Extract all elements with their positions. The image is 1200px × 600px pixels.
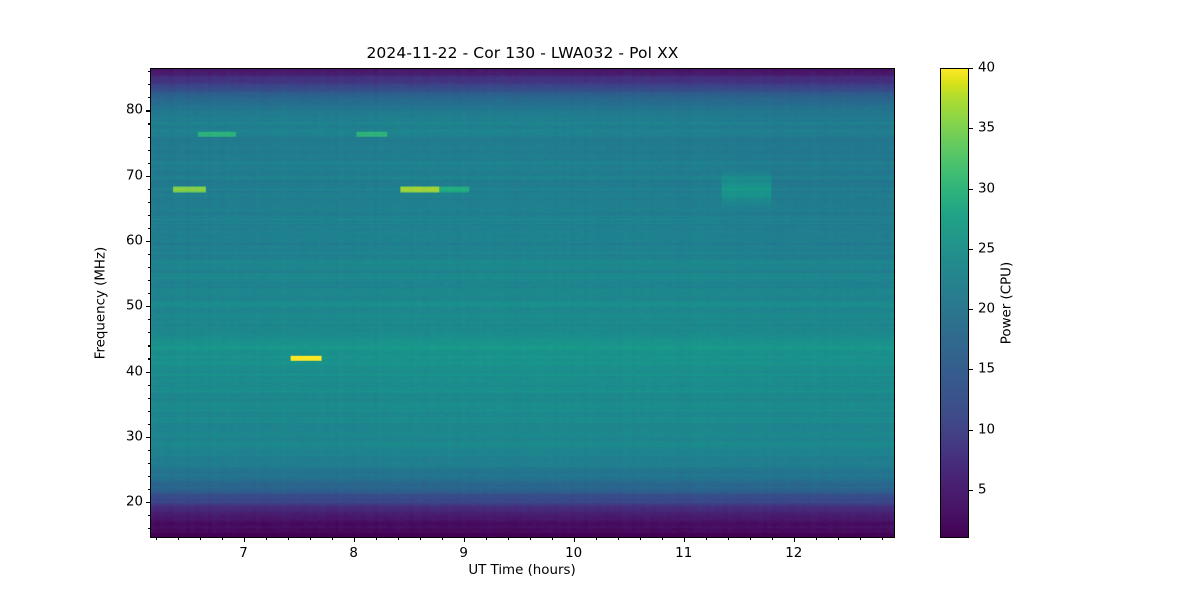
y-tick-minor — [148, 528, 150, 529]
x-tick-minor — [530, 538, 531, 540]
x-tick-minor — [398, 538, 399, 540]
y-tick-label: 30 — [126, 429, 143, 444]
y-tick-minor — [148, 332, 150, 333]
colorbar-tick — [969, 369, 973, 370]
x-tick-minor — [596, 538, 597, 540]
y-tick-minor — [148, 319, 150, 320]
y-tick-minor — [148, 150, 150, 151]
y-tick-minor — [148, 476, 150, 477]
y-tick-minor — [148, 345, 150, 346]
y-axis-label: Frequency (MHz) — [94, 247, 109, 360]
y-tick-minor — [148, 267, 150, 268]
x-tick-minor — [288, 538, 289, 540]
x-tick-major — [354, 538, 355, 542]
y-tick-major — [146, 502, 150, 503]
y-tick-label: 40 — [126, 364, 143, 379]
colorbar-tick-label: 35 — [978, 121, 995, 136]
x-tick-minor — [200, 538, 201, 540]
y-tick-label: 60 — [126, 233, 143, 248]
x-tick-minor — [508, 538, 509, 540]
y-tick-major — [146, 372, 150, 373]
y-tick-major — [146, 437, 150, 438]
y-tick-minor — [148, 228, 150, 229]
x-tick-label: 11 — [675, 546, 692, 561]
x-tick-minor — [552, 538, 553, 540]
colorbar-tick-label: 5 — [978, 482, 987, 497]
x-tick-major — [794, 538, 795, 542]
x-tick-label: 8 — [349, 546, 358, 561]
x-tick-minor — [486, 538, 487, 540]
x-tick-minor — [662, 538, 663, 540]
x-tick-major — [684, 538, 685, 542]
y-tick-label: 20 — [126, 495, 143, 510]
y-tick-major — [146, 306, 150, 307]
colorbar-tick-label: 20 — [978, 302, 995, 317]
x-tick-minor — [420, 538, 421, 540]
plot-title: 2024-11-22 - Cor 130 - LWA032 - Pol XX — [150, 44, 895, 62]
x-tick-minor — [706, 538, 707, 540]
spectrogram-image — [151, 69, 894, 537]
y-tick-minor — [148, 293, 150, 294]
colorbar-label: Power (CPU) — [1000, 262, 1015, 344]
y-tick-minor — [148, 463, 150, 464]
x-tick-minor — [772, 538, 773, 540]
y-tick-major — [146, 176, 150, 177]
y-tick-minor — [148, 398, 150, 399]
x-tick-minor — [618, 538, 619, 540]
colorbar-tick — [969, 309, 973, 310]
x-tick-minor — [178, 538, 179, 540]
x-tick-minor — [376, 538, 377, 540]
spectrogram-axes[interactable] — [150, 68, 895, 538]
colorbar-tick — [969, 430, 973, 431]
x-tick-label: 12 — [785, 546, 802, 561]
y-tick-minor — [148, 411, 150, 412]
x-axis-label: UT Time (hours) — [468, 563, 575, 578]
colorbar-tick-label: 10 — [978, 422, 995, 437]
x-tick-minor — [860, 538, 861, 540]
x-tick-label: 7 — [239, 546, 248, 561]
y-tick-minor — [148, 123, 150, 124]
colorbar-tick-label: 15 — [978, 362, 995, 377]
y-tick-label: 80 — [126, 103, 143, 118]
y-tick-minor — [148, 515, 150, 516]
figure-canvas: 2024-11-22 - Cor 130 - LWA032 - Pol XX 2… — [0, 0, 1200, 600]
y-tick-major — [146, 241, 150, 242]
colorbar-tick-label: 30 — [978, 181, 995, 196]
x-tick-minor — [882, 538, 883, 540]
y-tick-minor — [148, 358, 150, 359]
x-tick-label: 10 — [565, 546, 582, 561]
x-tick-minor — [156, 538, 157, 540]
x-tick-minor — [332, 538, 333, 540]
colorbar-tick — [969, 128, 973, 129]
x-tick-minor — [640, 538, 641, 540]
colorbar-gradient — [940, 68, 969, 538]
colorbar-tick — [969, 249, 973, 250]
y-tick-minor — [148, 385, 150, 386]
y-tick-minor — [148, 202, 150, 203]
y-tick-minor — [148, 280, 150, 281]
y-tick-minor — [148, 163, 150, 164]
x-tick-minor — [442, 538, 443, 540]
y-tick-minor — [148, 254, 150, 255]
x-tick-minor — [838, 538, 839, 540]
y-tick-minor — [148, 189, 150, 190]
y-tick-minor — [148, 489, 150, 490]
y-tick-label: 50 — [126, 299, 143, 314]
x-tick-label: 9 — [459, 546, 468, 561]
x-tick-major — [464, 538, 465, 542]
colorbar-tick-label: 25 — [978, 241, 995, 256]
y-tick-major — [146, 110, 150, 111]
x-tick-minor — [728, 538, 729, 540]
x-tick-minor — [222, 538, 223, 540]
colorbar-tick-label: 40 — [978, 61, 995, 76]
y-tick-minor — [148, 424, 150, 425]
y-tick-minor — [148, 450, 150, 451]
colorbar-tick — [969, 490, 973, 491]
y-tick-label: 70 — [126, 168, 143, 183]
y-tick-minor — [148, 97, 150, 98]
x-tick-minor — [816, 538, 817, 540]
y-tick-minor — [148, 137, 150, 138]
x-tick-minor — [750, 538, 751, 540]
colorbar-tick — [969, 68, 973, 69]
x-tick-major — [244, 538, 245, 542]
colorbar-tick — [969, 189, 973, 190]
x-tick-minor — [310, 538, 311, 540]
x-tick-minor — [266, 538, 267, 540]
y-tick-minor — [148, 84, 150, 85]
colorbar[interactable]: 510152025303540 — [940, 68, 969, 538]
y-tick-minor — [148, 71, 150, 72]
x-tick-major — [574, 538, 575, 542]
y-tick-minor — [148, 215, 150, 216]
